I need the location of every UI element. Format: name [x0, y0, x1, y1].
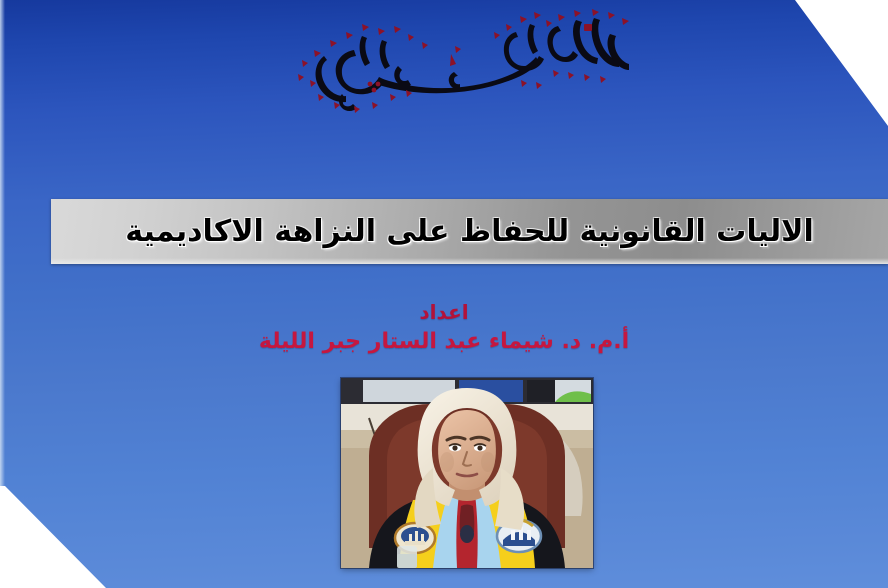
slide-title-banner: الاليات القانونية للحفاظ على النزاهة الا… [51, 199, 888, 264]
portrait-illustration [341, 378, 593, 568]
author-portrait-photo [341, 378, 593, 568]
presentation-title-slide: الاليات القانونية للحفاظ على النزاهة الا… [0, 0, 888, 588]
author-role-label: اعداد [0, 300, 888, 325]
page-title: الاليات القانونية للحفاظ على النزاهة الا… [125, 217, 813, 247]
author-name: أ.م. د. شيماء عبد الستار جبر الليلة [0, 328, 888, 356]
author-block: اعداد أ.م. د. شيماء عبد الستار جبر الليل… [0, 300, 888, 356]
basmala-calligraphy [258, 6, 630, 124]
